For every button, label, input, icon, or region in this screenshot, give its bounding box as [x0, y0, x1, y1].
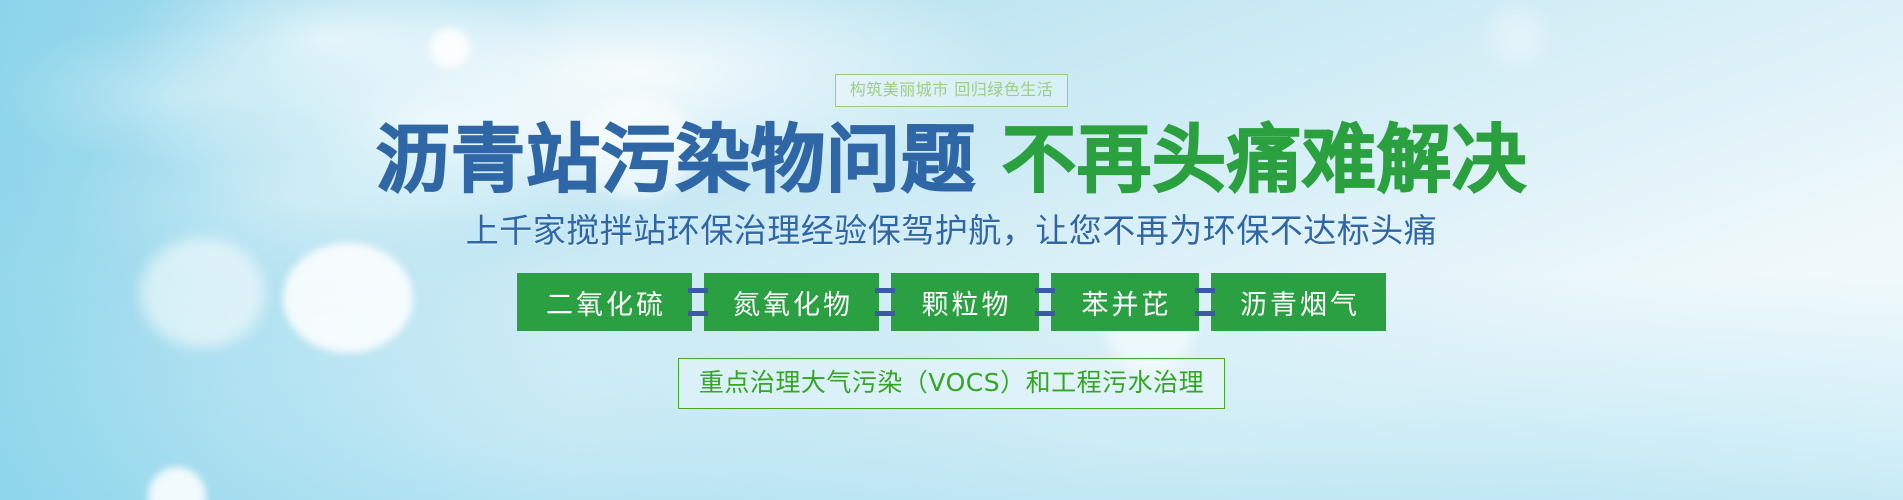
- pollutant-tag-list: 二氧化硫 氮氧化物 颗粒物 苯并芘 沥青烟气: [517, 273, 1386, 331]
- tag-item[interactable]: 二氧化硫: [517, 273, 692, 331]
- headline-primary: 沥青站污染物问题: [376, 123, 976, 197]
- footer-note: 重点治理大气污染（VOCS）和工程污水治理: [678, 358, 1225, 409]
- banner-content: 构筑美丽城市 回归绿色生活 沥青站污染物问题 不再头痛难解决 上千家搅拌站环保治…: [0, 0, 1903, 500]
- tag-separator-icon: [879, 273, 891, 331]
- tag-separator-icon: [1039, 273, 1051, 331]
- tag-item[interactable]: 颗粒物: [891, 273, 1039, 331]
- tag-item[interactable]: 氮氧化物: [704, 273, 879, 331]
- page-title: 沥青站污染物问题 不再头痛难解决: [376, 123, 1527, 197]
- tag-item[interactable]: 苯并芘: [1051, 273, 1199, 331]
- tag-item[interactable]: 沥青烟气: [1211, 273, 1386, 331]
- tag-separator-icon: [692, 273, 704, 331]
- headline-highlight: 不再头痛难解决: [1002, 123, 1527, 197]
- subtitle: 上千家搅拌站环保治理经验保驾护航，让您不再为环保不达标头痛: [466, 213, 1438, 249]
- eyebrow-tagline: 构筑美丽城市 回归绿色生活: [835, 74, 1069, 107]
- tag-separator-icon: [1199, 273, 1211, 331]
- promo-banner: 构筑美丽城市 回归绿色生活 沥青站污染物问题 不再头痛难解决 上千家搅拌站环保治…: [0, 0, 1903, 500]
